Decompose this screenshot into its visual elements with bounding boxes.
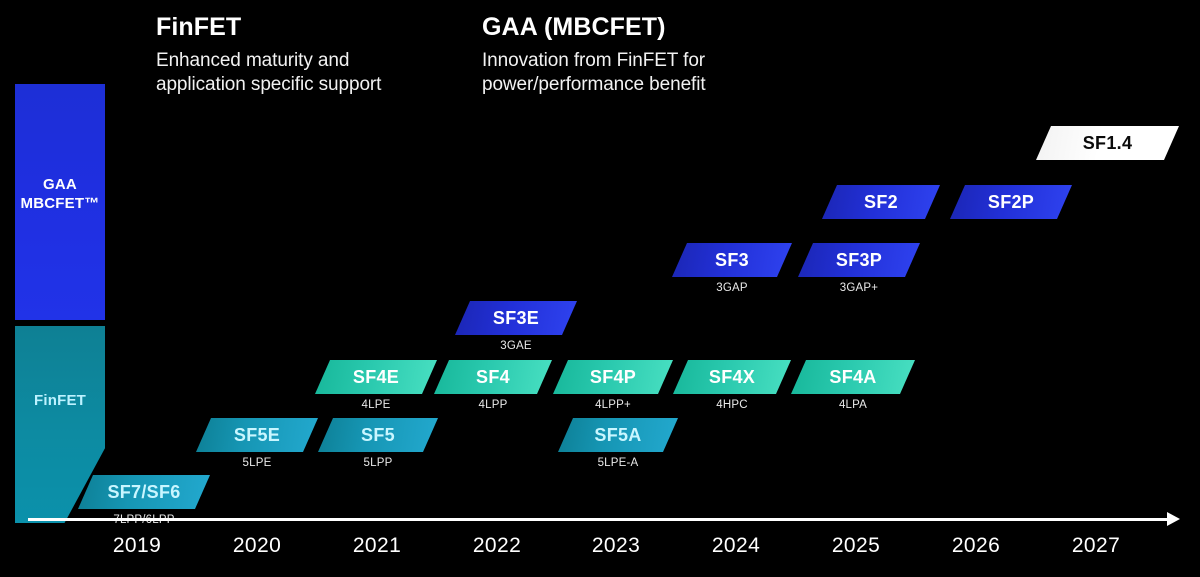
process-node-sf3p[interactable]: SF3P (798, 243, 920, 277)
roadmap-canvas: FinFET Enhanced maturity and application… (0, 0, 1200, 577)
header-finfet-subtitle: Enhanced maturity and application specif… (156, 49, 381, 98)
process-node-sublabel: 3GAP (672, 283, 792, 295)
year-label-2021: 2021 (327, 534, 427, 558)
process-node-sublabel: 5LPE (196, 458, 318, 470)
process-node-sf4x[interactable]: SF4X (673, 360, 791, 394)
process-node-label: SF3P (836, 251, 882, 269)
year-label-2024: 2024 (686, 534, 786, 558)
process-node-sf4[interactable]: SF4 (434, 360, 552, 394)
process-node-sublabel: 4LPA (791, 400, 915, 412)
process-node-sf5e[interactable]: SF5E (196, 418, 318, 452)
process-node-label: SF5 (361, 426, 395, 444)
process-node-label: SF3E (493, 309, 539, 327)
year-label-2019: 2019 (87, 534, 187, 558)
process-node-label: SF4 (476, 368, 510, 386)
process-node-sf4e[interactable]: SF4E (315, 360, 437, 394)
year-label-2026: 2026 (926, 534, 1026, 558)
timeline-axis-line (28, 518, 1173, 521)
category-rail-gaa-label: GAA MBCFET™ (15, 176, 105, 214)
process-node-sublabel: 5LPP (318, 458, 438, 470)
process-node-sublabel: 3GAP+ (798, 283, 920, 295)
process-node-sf1-4[interactable]: SF1.4 (1036, 126, 1179, 160)
process-node-label: SF5A (594, 426, 641, 444)
process-node-sublabel: 4LPE (315, 400, 437, 412)
process-node-label: SF2P (988, 193, 1034, 211)
process-node-label: SF5E (234, 426, 280, 444)
category-rail-gaa-mbcfet: GAA MBCFET™ (15, 84, 105, 320)
year-label-2023: 2023 (566, 534, 666, 558)
process-node-sf4a[interactable]: SF4A (791, 360, 915, 394)
process-node-sf4p[interactable]: SF4P (553, 360, 673, 394)
header-gaa-title: GAA (MBCFET) (482, 14, 706, 42)
header-gaa-subtitle: Innovation from FinFET for power/perform… (482, 49, 706, 98)
process-node-label: SF4A (829, 368, 876, 386)
year-label-2022: 2022 (447, 534, 547, 558)
year-label-2025: 2025 (806, 534, 906, 558)
process-node-label: SF4E (353, 368, 399, 386)
process-node-sf3e[interactable]: SF3E (455, 301, 577, 335)
process-node-label: SF1.4 (1083, 134, 1133, 152)
process-node-sublabel: 4HPC (673, 400, 791, 412)
process-node-sf2[interactable]: SF2 (822, 185, 940, 219)
process-node-sf3[interactable]: SF3 (672, 243, 792, 277)
process-node-sf5a[interactable]: SF5A (558, 418, 678, 452)
process-node-label: SF7/SF6 (107, 483, 180, 501)
process-node-label: SF4X (709, 368, 755, 386)
timeline-axis-arrow-icon (1167, 512, 1180, 526)
process-node-sublabel: 5LPE-A (558, 458, 678, 470)
category-rail-finfet-label: FinFET (15, 392, 105, 411)
process-node-label: SF2 (864, 193, 898, 211)
process-node-label: SF3 (715, 251, 749, 269)
process-node-sf2p[interactable]: SF2P (950, 185, 1072, 219)
process-node-sublabel: 4LPP (434, 400, 552, 412)
process-node-sublabel: 3GAE (455, 341, 577, 353)
process-node-sublabel: 4LPP+ (553, 400, 673, 412)
year-label-2020: 2020 (207, 534, 307, 558)
process-node-label: SF4P (590, 368, 636, 386)
process-node-sf7-sf6[interactable]: SF7/SF6 (78, 475, 210, 509)
header-finfet: FinFET Enhanced maturity and application… (156, 14, 381, 97)
header-finfet-title: FinFET (156, 14, 381, 42)
process-node-sf5[interactable]: SF5 (318, 418, 438, 452)
header-gaa: GAA (MBCFET) Innovation from FinFET for … (482, 14, 706, 97)
year-label-2027: 2027 (1046, 534, 1146, 558)
